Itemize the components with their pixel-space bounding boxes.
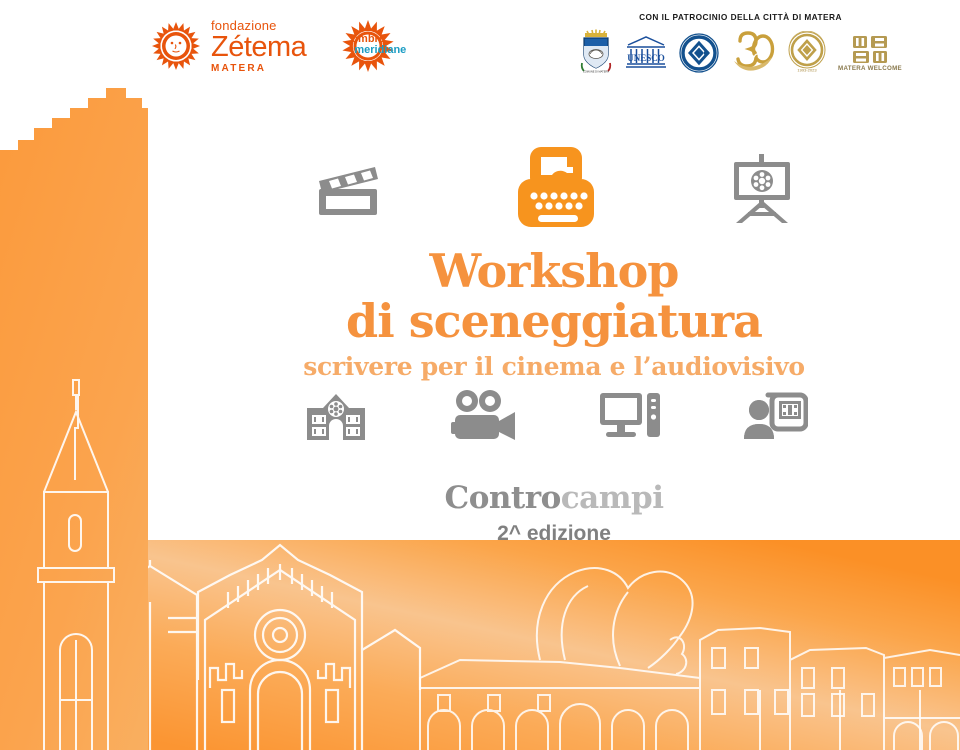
person-presentation-screen-icon [742, 389, 808, 441]
title-line-2: di sceneggiatura [148, 298, 960, 344]
movie-camera-icon [449, 388, 519, 442]
title-line-1: Workshop [148, 248, 960, 294]
easel-projector-screen-icon [724, 152, 800, 224]
zetema-fondazione-text: fondazione [211, 19, 306, 32]
meridiane-word: meridiane [354, 45, 406, 56]
fondazione-zetema-logo: fondazione Zétema MATERA [150, 19, 306, 74]
thirty-anniversary-icon [730, 29, 776, 73]
main-content: Workshop di sceneggiatura scrivere per i… [148, 88, 960, 540]
gold-seal-icon: 1993-2023 [787, 31, 827, 73]
ombre-meridiane-logo: ombre meridiane [324, 18, 420, 74]
desktop-computer-icon [598, 389, 662, 441]
edition-label: 2^ edizione [148, 522, 960, 546]
comune-di-matera-crest-icon: COMUNE DI MATERA [579, 29, 613, 73]
poster-header: fondazione Zétema MATERA [0, 0, 960, 88]
sun-icon [150, 20, 202, 72]
matera-welcome-icon: MATERA WELCOME [838, 34, 902, 73]
svg-text:UNESCO: UNESCO [627, 53, 665, 63]
clapperboard-icon [311, 157, 387, 219]
icon-row-top [283, 143, 828, 233]
zetema-city-text: MATERA [211, 64, 306, 74]
sponsor-logos: fondazione Zétema MATERA [150, 18, 420, 74]
svg-text:1993-2023: 1993-2023 [797, 68, 817, 73]
patronage-block: CON IL PATROCINIO DELLA CITTÀ DI MATERA … [579, 12, 902, 73]
poster-canvas: fondazione Zétema MATERA [0, 0, 960, 750]
typewriter-icon [510, 143, 602, 233]
icon-row-bottom [283, 388, 828, 442]
matera-welcome-label: MATERA WELCOME [838, 65, 902, 73]
footer-block: Controcampi 2^ edizione [148, 480, 960, 546]
zetema-name-text: Zétema [211, 33, 306, 62]
patronage-logos: COMUNE DI MATERA UNESCO [579, 27, 902, 73]
title-block: Workshop di sceneggiatura scrivere per i… [148, 248, 960, 381]
patronage-label: CON IL PATROCINIO DELLA CITTÀ DI MATERA [639, 12, 842, 22]
subtitle: scrivere per il cinema e l’audiovisivo [148, 352, 960, 381]
cinema-building-icon [303, 388, 369, 442]
brand-name-part2: campi [561, 480, 664, 516]
brand-name-part1: Contro [445, 480, 561, 516]
svg-text:COMUNE DI MATERA: COMUNE DI MATERA [583, 69, 609, 73]
brand-name: Controcampi [148, 480, 960, 516]
blue-circle-emblem-icon [679, 33, 719, 73]
unesco-logo-icon: UNESCO [624, 33, 668, 73]
